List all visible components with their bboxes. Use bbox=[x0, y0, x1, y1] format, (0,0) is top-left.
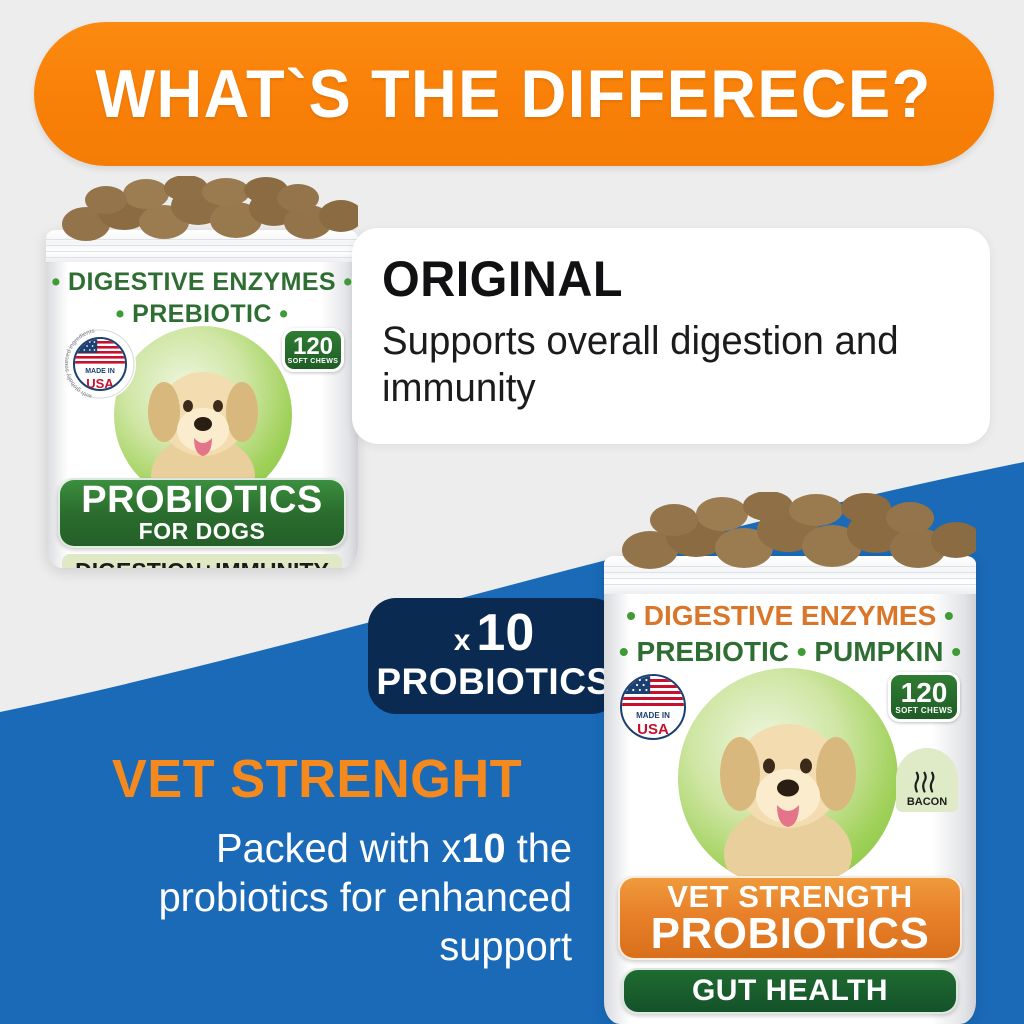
benefit-strip: DIGESTION+IMMUNITY bbox=[62, 554, 342, 568]
original-card-title: ORIGINAL bbox=[382, 254, 972, 304]
bottle-body: • DIGESTIVE ENZYMES • • PREBIOTIC • bbox=[46, 230, 358, 568]
keyword-prebiotic: PREBIOTIC bbox=[637, 636, 789, 667]
original-info-card: ORIGINAL Supports overall digestion and … bbox=[352, 228, 990, 444]
soft-chews-pile-icon bbox=[46, 176, 358, 242]
vet-strength-product-bottle: • DIGESTIVE ENZYMES • • PREBIOTIC • PUMP… bbox=[604, 492, 976, 1024]
flavor-label: BACON bbox=[907, 796, 947, 808]
banner-subtitle: PROBIOTICS bbox=[651, 912, 930, 956]
vet-strength-copy: VET STRENGHT Packed with x10 the probiot… bbox=[62, 748, 572, 972]
desc-bold: 10 bbox=[461, 825, 505, 871]
count-unit: SOFT CHEWS bbox=[288, 358, 339, 365]
multiplier-value: 10 bbox=[476, 609, 534, 658]
bacon-icon bbox=[910, 770, 944, 796]
gut-health-label: GUT HEALTH bbox=[692, 974, 888, 1008]
banner-subtitle: FOR DOGS bbox=[139, 519, 266, 544]
us-flag-icon bbox=[75, 339, 125, 365]
original-product-bottle: • DIGESTIVE ENZYMES • • PREBIOTIC • bbox=[46, 176, 358, 568]
us-flag-icon bbox=[622, 676, 684, 708]
usa-flag-seal: MADE IN USA bbox=[73, 337, 127, 391]
product-name-banner: VET STRENGTH PROBIOTICS bbox=[618, 876, 962, 960]
soft-chews-pile-icon bbox=[604, 492, 976, 570]
usa-badge-made-in: MADE IN bbox=[636, 712, 670, 720]
multiplier-symbol: x bbox=[454, 627, 471, 656]
infographic-canvas: WHAT`S THE DIFFERECE? ORIGINAL Supports … bbox=[0, 0, 1024, 1024]
bullet-dot-icon: • bbox=[619, 636, 629, 667]
usa-badge-made-in: MADE IN bbox=[85, 368, 115, 375]
vet-strength-title: VET STRENGHT bbox=[70, 748, 565, 810]
usa-badge-country: USA bbox=[86, 377, 113, 390]
bullet-dot-icon: • bbox=[944, 600, 954, 631]
bullet-dot-icon: • bbox=[52, 268, 61, 296]
desc-last-line: support bbox=[77, 922, 572, 971]
banner-title: PROBIOTICS bbox=[81, 481, 322, 519]
keyword-pumpkin: PUMPKIN bbox=[814, 636, 943, 667]
usa-badge-country: USA bbox=[637, 722, 669, 737]
count-unit: SOFT CHEWS bbox=[895, 706, 952, 715]
banner-title: VET STRENGTH bbox=[667, 881, 912, 912]
dog-photo bbox=[678, 668, 898, 888]
usa-flag-seal: MADE IN USA bbox=[620, 674, 686, 740]
keyword-digestive-enzymes: DIGESTIVE ENZYMES bbox=[644, 600, 937, 631]
benefit-strip-text: DIGESTION+IMMUNITY bbox=[75, 558, 329, 569]
bullet-dot-icon: • bbox=[116, 300, 125, 328]
count-value: 120 bbox=[901, 679, 948, 706]
soft-chews-count-badge: 120 SOFT CHEWS bbox=[282, 328, 344, 372]
gut-health-banner: GUT HEALTH bbox=[622, 968, 958, 1014]
original-card-description: Supports overall digestion and immunity bbox=[382, 318, 958, 412]
keyword-prebiotic: PREBIOTIC bbox=[132, 300, 272, 328]
bottle-keywords: • DIGESTIVE ENZYMES • • PREBIOTIC • PUMP… bbox=[604, 600, 976, 668]
bullet-dot-icon: • bbox=[951, 636, 961, 667]
count-value: 120 bbox=[293, 335, 333, 359]
x10-probiotics-badge: x 10 PROBIOTICS bbox=[368, 598, 620, 714]
header-banner: WHAT`S THE DIFFERECE? bbox=[34, 22, 994, 166]
made-in-usa-badge: MADE IN USA bbox=[620, 674, 686, 740]
bullet-dot-icon: • bbox=[279, 300, 288, 328]
bottle-keywords: • DIGESTIVE ENZYMES • • PREBIOTIC • bbox=[46, 268, 358, 329]
x10-badge-label: PROBIOTICS bbox=[376, 661, 611, 703]
vet-strength-description: Packed with x10 the probiotics for enhan… bbox=[77, 824, 572, 972]
golden-retriever-illustration bbox=[678, 668, 898, 888]
made-in-usa-badge: with globally sourced ingredients bbox=[64, 328, 136, 400]
bullet-dot-icon: • bbox=[626, 600, 636, 631]
flavor-badge: BACON bbox=[896, 748, 958, 812]
page-title: WHAT`S THE DIFFERECE? bbox=[96, 55, 932, 133]
product-name-banner: PROBIOTICS FOR DOGS bbox=[58, 478, 346, 548]
keyword-digestive-enzymes: DIGESTIVE ENZYMES bbox=[68, 268, 336, 296]
soft-chews-count-badge: 120 SOFT CHEWS bbox=[888, 672, 960, 722]
bullet-dot-icon: • bbox=[797, 636, 807, 667]
desc-before: Packed with x bbox=[216, 825, 461, 871]
bottle-body: • DIGESTIVE ENZYMES • • PREBIOTIC • PUMP… bbox=[604, 556, 976, 1024]
